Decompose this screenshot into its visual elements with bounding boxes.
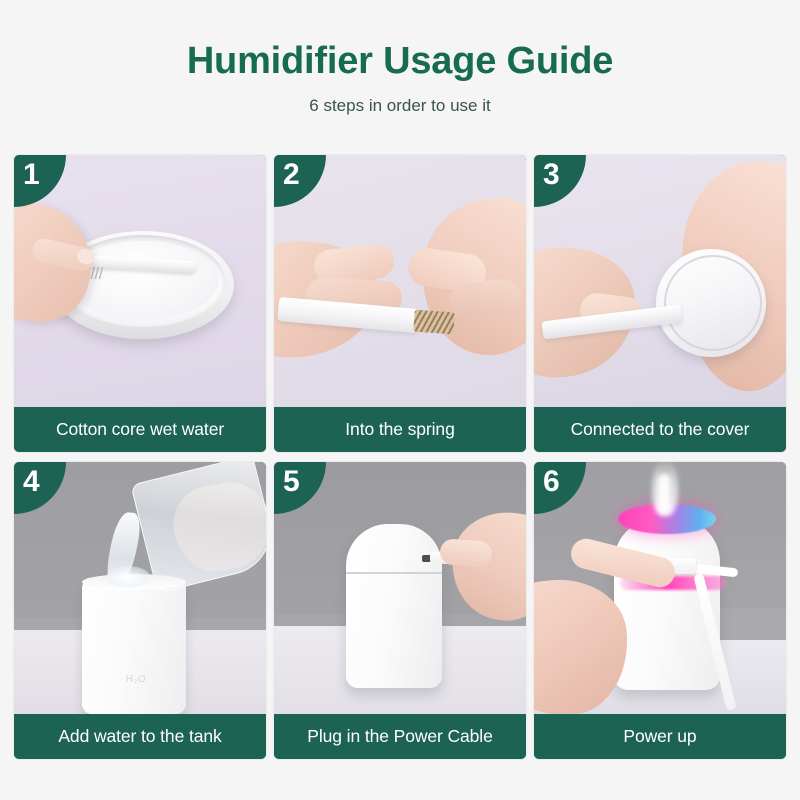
step-panel-1[interactable]: 1 Cotton core wet water	[14, 155, 266, 452]
step-caption-bar-1: Cotton core wet water	[14, 407, 266, 452]
header: Humidifier Usage Guide 6 steps in order …	[0, 0, 800, 116]
step-caption-text-2: Into the spring	[345, 419, 454, 440]
step-panel-3[interactable]: 3 Connected to the cover	[534, 155, 786, 452]
cover-ring-shape	[664, 255, 762, 351]
step-photo-5	[274, 462, 526, 714]
water-tank-shape	[82, 580, 186, 714]
tank-h2o-label: H₂O	[114, 674, 158, 685]
infographic-page: Humidifier Usage Guide 6 steps in order …	[0, 0, 800, 800]
steps-grid: 1 Cotton core wet water	[14, 155, 786, 759]
step-caption-bar-6: Power up	[534, 714, 786, 759]
step-panel-5[interactable]: 5 Plug in the Power Cable	[274, 462, 526, 759]
humidifier-seam-shape	[346, 572, 442, 574]
scene-plug-in-the-power-cable	[274, 462, 526, 714]
step-panel-2[interactable]: 2 Into the spring	[274, 155, 526, 452]
scene-cotton-core-wet-water	[14, 155, 266, 407]
step-photo-1	[14, 155, 266, 407]
step-panel-4[interactable]: H₂O 4 Add water to the tank	[14, 462, 266, 759]
step-caption-text-5: Plug in the Power Cable	[307, 726, 492, 747]
step-caption-text-4: Add water to the tank	[58, 726, 221, 747]
scene-power-up	[534, 462, 786, 714]
mist-jet-shape	[658, 474, 670, 514]
finger-shape	[439, 538, 493, 568]
step-photo-3	[534, 155, 786, 407]
humidifier-body-shape	[346, 524, 442, 688]
step-number-6: 6	[543, 467, 560, 497]
step-caption-text-3: Connected to the cover	[571, 419, 750, 440]
step-caption-text-6: Power up	[623, 726, 696, 747]
step-photo-4: H₂O	[14, 462, 266, 714]
step-caption-bar-4: Add water to the tank	[14, 714, 266, 759]
step-number-1: 1	[23, 160, 40, 190]
step-caption-bar-5: Plug in the Power Cable	[274, 714, 526, 759]
water-splash-shape	[106, 566, 150, 588]
step-caption-text-1: Cotton core wet water	[56, 419, 224, 440]
scene-into-the-spring	[274, 155, 526, 407]
hand-shape	[445, 505, 526, 626]
step-caption-bar-3: Connected to the cover	[534, 407, 786, 452]
page-title: Humidifier Usage Guide	[0, 42, 800, 82]
step-number-3: 3	[543, 160, 560, 190]
page-subtitle: 6 steps in order to use it	[0, 96, 800, 116]
spring-shape	[413, 310, 454, 335]
step-photo-6	[534, 462, 786, 714]
scene-add-water-to-the-tank: H₂O	[14, 462, 266, 714]
step-caption-bar-2: Into the spring	[274, 407, 526, 452]
step-number-2: 2	[283, 160, 300, 190]
step-panel-6[interactable]: 6 Power up	[534, 462, 786, 759]
step-number-4: 4	[23, 467, 40, 497]
step-photo-2	[274, 155, 526, 407]
scene-connected-to-the-cover	[534, 155, 786, 407]
step-number-5: 5	[283, 467, 300, 497]
